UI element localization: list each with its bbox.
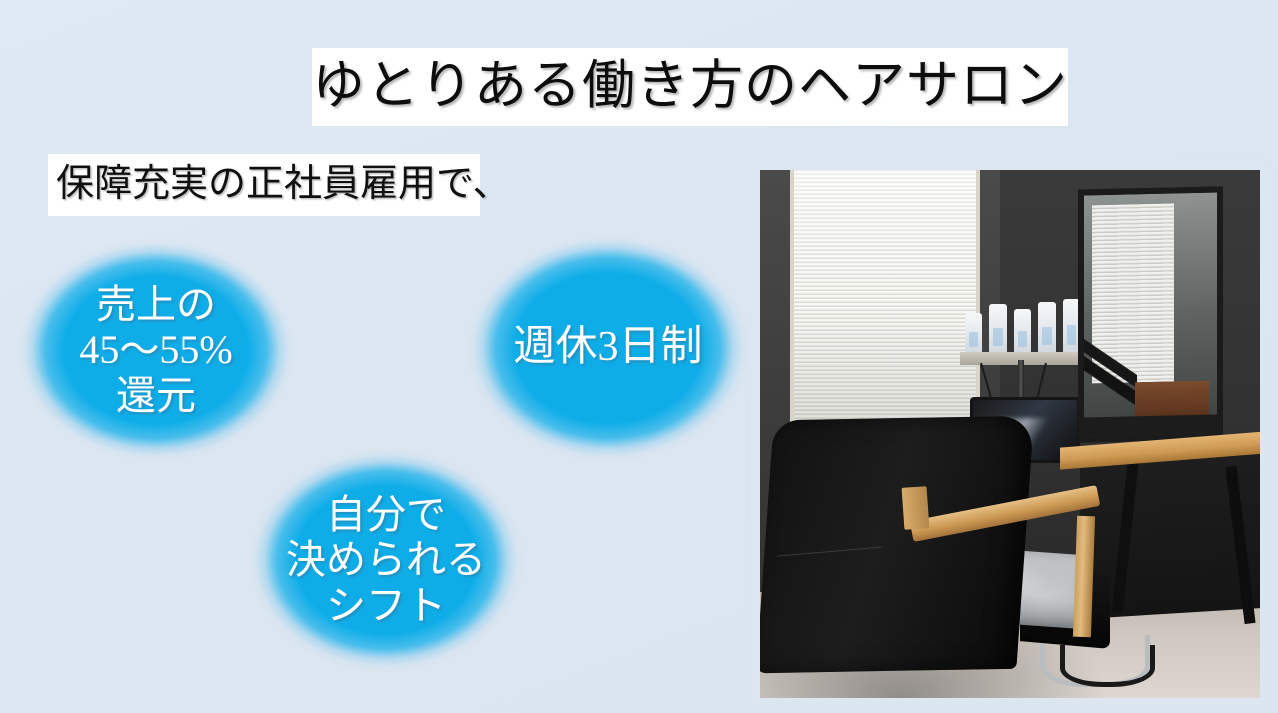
bubble-revenue: 売上の 45〜55% 還元 bbox=[16, 238, 296, 462]
window-blinds bbox=[790, 170, 980, 455]
chair-base-dark bbox=[1060, 645, 1155, 687]
title-banner: ゆとりある働き方のヘアサロン bbox=[312, 48, 1068, 126]
bottle-icon bbox=[989, 304, 1006, 355]
subtitle-text: 保障充実の正社員雇用で、 bbox=[56, 164, 510, 206]
product-bottles bbox=[965, 299, 1080, 354]
salon-photo-content bbox=[760, 170, 1260, 698]
mirror-reflected-lamp bbox=[1084, 335, 1137, 418]
chair-backrest bbox=[760, 416, 1034, 674]
page-title: ゆとりある働き方のヘアサロン bbox=[312, 59, 1068, 115]
salon-photo bbox=[760, 170, 1260, 698]
mirror-reflected-floor bbox=[1084, 415, 1217, 437]
bubble-shift-label: 自分で 決められる シフト bbox=[286, 492, 486, 629]
bubble-revenue-label: 売上の 45〜55% 還元 bbox=[79, 282, 232, 419]
bottle-icon bbox=[1014, 309, 1031, 354]
bottle-icon bbox=[965, 313, 982, 355]
bubble-shift: 自分で 決められる シフト bbox=[248, 448, 524, 672]
blinds-shading bbox=[794, 170, 976, 451]
subtitle-banner: 保障充実の正社員雇用で、 bbox=[48, 154, 480, 216]
slide-canvas: ゆとりある働き方のヘアサロン 保障充実の正社員雇用で、 売上の 45〜55% 還… bbox=[0, 0, 1278, 713]
salon-mirror bbox=[1078, 187, 1223, 444]
chair-seam bbox=[777, 547, 881, 557]
mirror-glass bbox=[1084, 193, 1217, 437]
bubble-holidays-label: 週休3日制 bbox=[513, 324, 702, 372]
bubble-holidays: 週休3日制 bbox=[466, 234, 750, 462]
bottle-icon bbox=[1038, 302, 1055, 355]
armrest-front-end bbox=[901, 486, 929, 530]
